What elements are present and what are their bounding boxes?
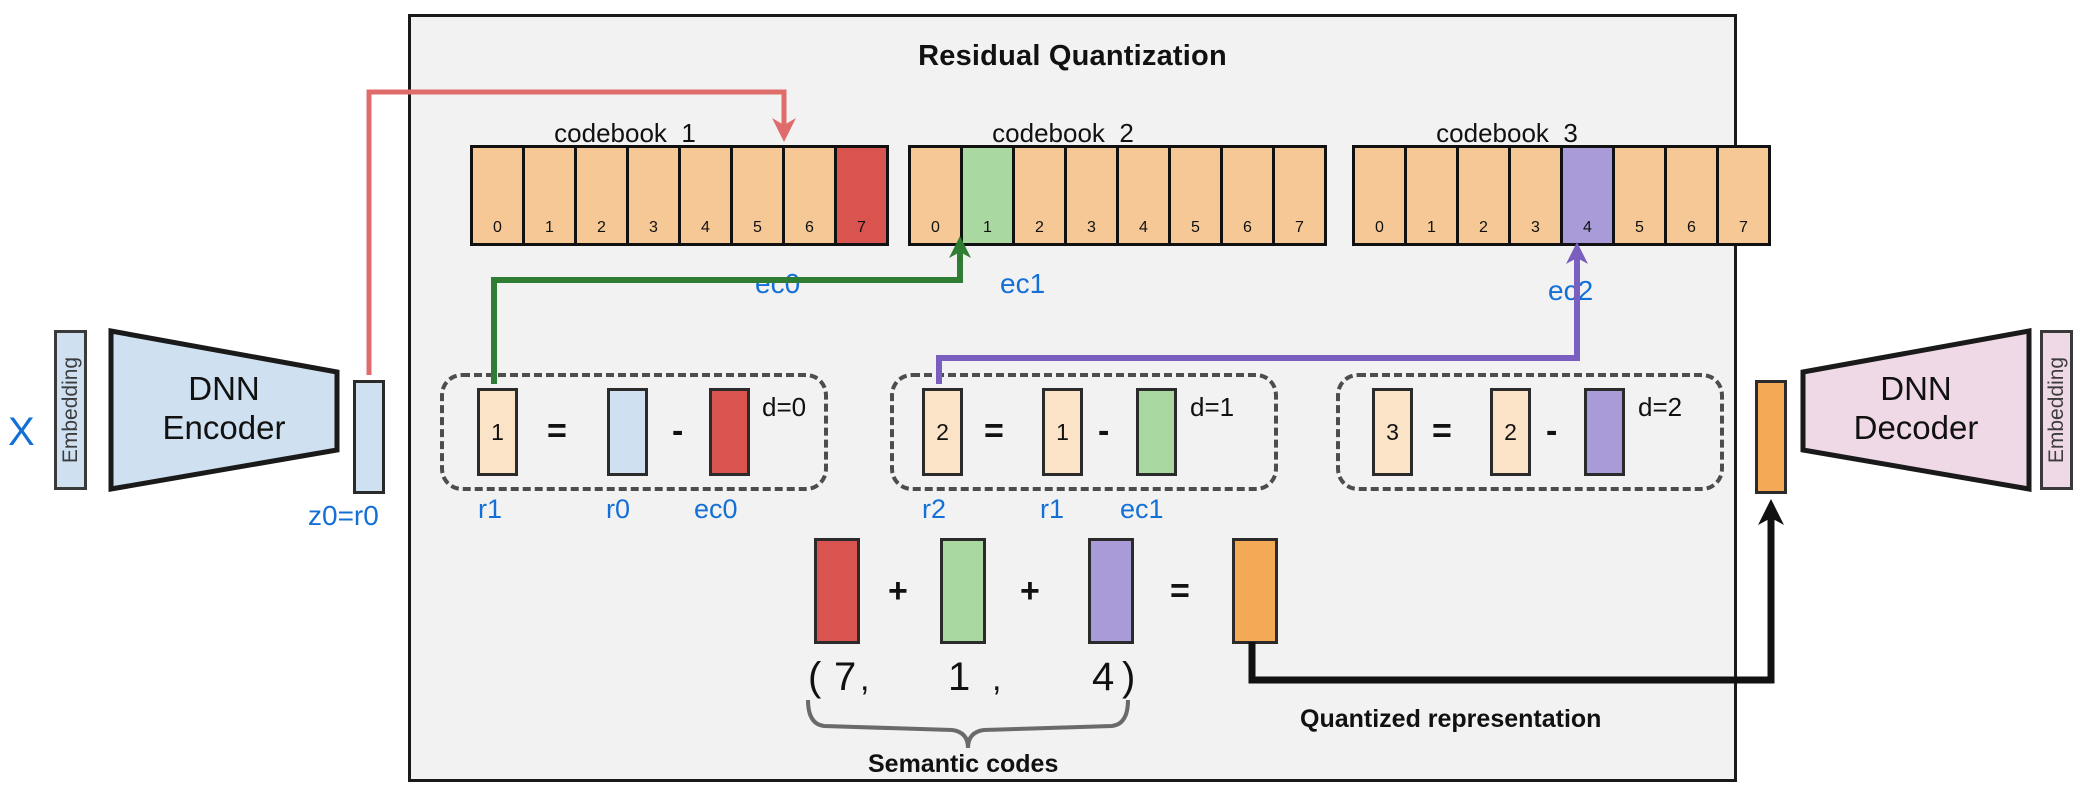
decoder-embedding-label: Embedding — [2045, 357, 2069, 463]
panel-title: Residual Quantization — [408, 40, 1737, 73]
codebook-3-cell-2[interactable]: 2 — [1459, 148, 1508, 243]
codebook-3-cell-1[interactable]: 1 — [1407, 148, 1456, 243]
sum-purple-box — [1088, 538, 1134, 644]
encoder-embedding-label: Embedding — [59, 357, 83, 463]
comma-1: , — [860, 660, 869, 699]
codebook-3-cell-5[interactable]: 5 — [1615, 148, 1664, 243]
dnn-encoder-shape: DNN Encoder — [108, 328, 340, 492]
codebook-2-cell-2[interactable]: 2 — [1015, 148, 1064, 243]
input-label-x: X — [8, 410, 35, 455]
codebook-1-cell-4[interactable]: 4 — [681, 148, 730, 243]
semantic-code-1: 7 — [834, 655, 856, 700]
r0-label: r0 — [606, 494, 630, 525]
codebook-2: 0 1 2 3 4 5 6 7 — [908, 145, 1327, 246]
equals-sign-2: = — [984, 412, 1004, 451]
quantized-representation-label: Quantized representation — [1300, 705, 1601, 734]
codebook-3-cell-3[interactable]: 3 — [1511, 148, 1560, 243]
ec1-box — [1136, 388, 1177, 476]
depth-label-2: d=1 — [1190, 392, 1234, 423]
ec0-box — [709, 388, 750, 476]
equals-sign-3: = — [1432, 412, 1452, 451]
ec2-box — [1584, 388, 1625, 476]
close-paren: ) — [1122, 655, 1135, 700]
plus-sign-1: + — [888, 572, 908, 611]
ec2-label: ec2 — [1548, 275, 1593, 307]
z0-bar — [353, 380, 385, 494]
r2-box: 2 — [922, 388, 963, 476]
codebook-3: 0 1 2 3 4 5 6 7 — [1352, 145, 1771, 246]
sum-green-box — [940, 538, 986, 644]
open-paren: ( — [808, 655, 821, 700]
ec1-label: ec1 — [1000, 268, 1045, 300]
sum-equals-sign: = — [1170, 572, 1190, 611]
dnn-decoder-line2: Decoder — [1800, 409, 2032, 448]
semantic-code-2: 1 — [948, 655, 970, 700]
codebook-2-cell-4[interactable]: 4 — [1119, 148, 1168, 243]
equals-sign-1: = — [547, 412, 567, 451]
codebook-3-cell-6[interactable]: 6 — [1667, 148, 1716, 243]
codebook-2-cell-6[interactable]: 6 — [1223, 148, 1272, 243]
ec0-operand-label: ec0 — [694, 494, 738, 525]
dnn-encoder-line1: DNN — [108, 370, 340, 409]
codebook-1-cell-6[interactable]: 6 — [785, 148, 834, 243]
semantic-code-3: 4 — [1092, 655, 1114, 700]
dnn-decoder-shape: DNN Decoder — [1800, 328, 2032, 492]
codebook-2-cell-7[interactable]: 7 — [1275, 148, 1324, 243]
r1-operand-label: r1 — [1040, 494, 1064, 525]
dnn-decoder-line1: DNN — [1800, 370, 2032, 409]
diagram-canvas: Residual Quantization X Embedding DNN En… — [0, 0, 2100, 795]
minus-sign-3: - — [1546, 412, 1557, 451]
sum-red-box — [814, 538, 860, 644]
codebook-2-cell-3[interactable]: 3 — [1067, 148, 1116, 243]
minus-sign-1: - — [672, 412, 683, 451]
r2-operand-box: 2 — [1490, 388, 1531, 476]
codebook-3-cell-4-selected[interactable]: 4 — [1563, 148, 1612, 243]
codebook-3-cell-7[interactable]: 7 — [1719, 148, 1768, 243]
codebook-1-cell-0[interactable]: 0 — [473, 148, 522, 243]
depth-label-1: d=0 — [762, 392, 806, 423]
decoder-embedding-bar: Embedding — [2040, 330, 2073, 490]
codebook-2-cell-0[interactable]: 0 — [911, 148, 960, 243]
codebook-1-cell-1[interactable]: 1 — [525, 148, 574, 243]
ec1-operand-label: ec1 — [1120, 494, 1164, 525]
codebook-2-cell-5[interactable]: 5 — [1171, 148, 1220, 243]
dnn-encoder-line2: Encoder — [108, 409, 340, 448]
r1-box: 1 — [477, 388, 518, 476]
semantic-codes-label: Semantic codes — [868, 750, 1058, 779]
z0-label: z0=r0 — [308, 500, 379, 532]
r0-box — [607, 388, 648, 476]
codebook-2-cell-1-selected[interactable]: 1 — [963, 148, 1012, 243]
comma-2: , — [992, 660, 1001, 699]
r3-box: 3 — [1372, 388, 1413, 476]
dnn-encoder-label: DNN Encoder — [108, 370, 340, 448]
depth-label-3: d=2 — [1638, 392, 1682, 423]
codebook-3-cell-0[interactable]: 0 — [1355, 148, 1404, 243]
r1-label: r1 — [478, 494, 502, 525]
codebook-1: 0 1 2 3 4 5 6 7 — [470, 145, 889, 246]
codebook-1-cell-2[interactable]: 2 — [577, 148, 626, 243]
dnn-decoder-label: DNN Decoder — [1800, 370, 2032, 448]
plus-sign-2: + — [1020, 572, 1040, 611]
r2-label: r2 — [922, 494, 946, 525]
codebook-1-cell-5[interactable]: 5 — [733, 148, 782, 243]
quantized-sum-box — [1232, 538, 1278, 644]
minus-sign-2: - — [1098, 412, 1109, 451]
r1-operand-box: 1 — [1042, 388, 1083, 476]
decoder-input-bar — [1755, 380, 1787, 494]
codebook-1-cell-3[interactable]: 3 — [629, 148, 678, 243]
encoder-embedding-bar: Embedding — [54, 330, 87, 490]
ec0-label: ec0 — [755, 268, 800, 300]
codebook-1-cell-7-selected[interactable]: 7 — [837, 148, 886, 243]
